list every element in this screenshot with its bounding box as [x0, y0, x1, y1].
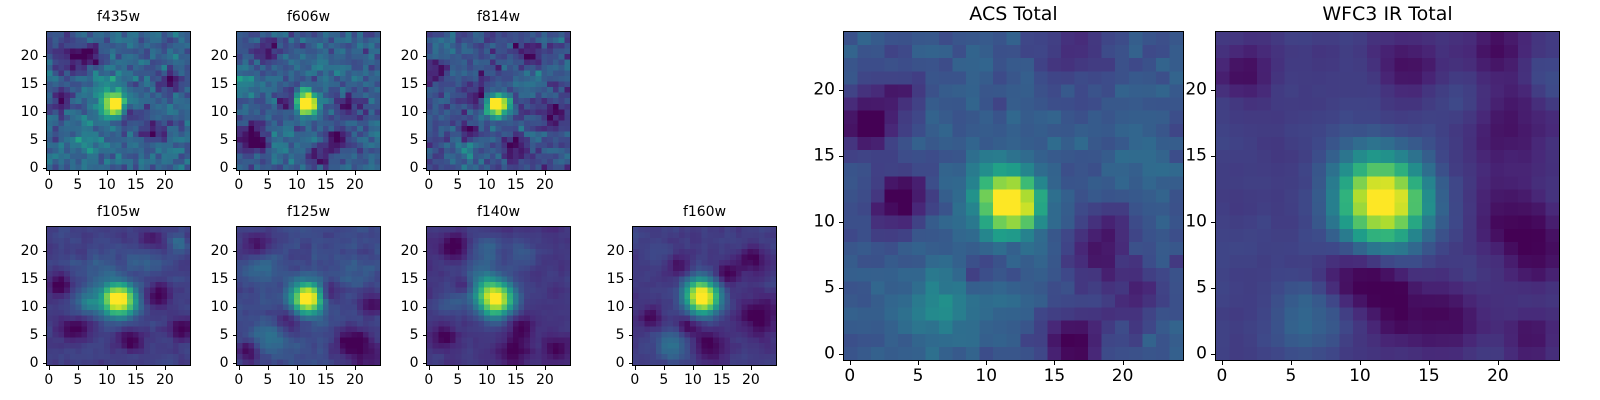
xtick-f814w-10 — [487, 171, 488, 175]
ytick-f105w-15 — [43, 279, 47, 280]
xtick-wfc3_ir_total-10 — [1360, 361, 1361, 365]
yticklabel-f814w-20: 20 — [345, 49, 419, 63]
panel-title-f160w: f160w — [632, 205, 777, 219]
ytick-f105w-5 — [43, 335, 47, 336]
ytick-f160w-5 — [629, 335, 633, 336]
yticklabel-f125w-10: 10 — [155, 300, 229, 314]
yticklabel-f814w-10: 10 — [345, 105, 419, 119]
heatmap-image-wfc3_ir_total — [1216, 32, 1559, 360]
axes-f160w[interactable] — [632, 226, 777, 366]
yticklabel-f160w-15: 15 — [551, 272, 625, 286]
panel-acs_total: ACS Total0510152005101520 — [843, 31, 1184, 361]
panel-title-f606w: f606w — [236, 10, 381, 24]
yticklabel-f814w-15: 15 — [345, 77, 419, 91]
yticklabel-f606w-15: 15 — [155, 77, 229, 91]
axes-acs_total[interactable] — [843, 31, 1184, 361]
xtick-acs_total-0 — [850, 361, 851, 365]
ytick-wfc3_ir_total-0 — [1211, 354, 1215, 355]
yticklabel-acs_total-20: 20 — [761, 82, 835, 99]
xtick-f140w-5 — [458, 366, 459, 370]
xtick-f140w-20 — [545, 366, 546, 370]
xtick-f606w-5 — [268, 171, 269, 175]
yticklabel-f105w-15: 15 — [0, 272, 39, 286]
xtick-f606w-0 — [239, 171, 240, 175]
ytick-f606w-10 — [233, 112, 237, 113]
ytick-acs_total-20 — [839, 90, 843, 91]
axes-wfc3_ir_total[interactable] — [1215, 31, 1560, 361]
xticklabel-wfc3_ir_total-5: 5 — [1285, 368, 1296, 385]
yticklabel-f606w-5: 5 — [155, 133, 229, 147]
ytick-f606w-5 — [233, 140, 237, 141]
yticklabel-f105w-20: 20 — [0, 244, 39, 258]
xtick-f814w-0 — [429, 171, 430, 175]
panel-title-acs_total: ACS Total — [843, 5, 1184, 24]
xticklabel-acs_total-5: 5 — [913, 368, 924, 385]
xtick-f435w-5 — [78, 171, 79, 175]
yticklabel-f160w-20: 20 — [551, 244, 625, 258]
yticklabel-acs_total-15: 15 — [761, 148, 835, 165]
xticklabel-f435w-15: 15 — [127, 178, 145, 192]
xtick-f140w-10 — [487, 366, 488, 370]
yticklabel-f435w-20: 20 — [0, 49, 39, 63]
xticklabel-f606w-10: 10 — [288, 178, 306, 192]
yticklabel-f140w-0: 0 — [345, 356, 419, 370]
ytick-f606w-15 — [233, 84, 237, 85]
ytick-f435w-15 — [43, 84, 47, 85]
panel-f160w: f160w0510152005101520 — [632, 226, 777, 366]
xtick-f125w-10 — [297, 366, 298, 370]
yticklabel-wfc3_ir_total-0: 0 — [1133, 346, 1207, 363]
xtick-f435w-0 — [49, 171, 50, 175]
yticklabel-f105w-0: 0 — [0, 356, 39, 370]
ytick-f814w-0 — [423, 168, 427, 169]
yticklabel-f140w-20: 20 — [345, 244, 419, 258]
xticklabel-f814w-15: 15 — [507, 178, 525, 192]
ytick-wfc3_ir_total-20 — [1211, 90, 1215, 91]
xticklabel-f160w-15: 15 — [713, 373, 731, 387]
xticklabel-f606w-20: 20 — [346, 178, 364, 192]
yticklabel-f435w-0: 0 — [0, 161, 39, 175]
yticklabel-f435w-15: 15 — [0, 77, 39, 91]
xticklabel-f125w-0: 0 — [234, 373, 243, 387]
yticklabel-f140w-5: 5 — [345, 328, 419, 342]
xtick-f814w-15 — [516, 171, 517, 175]
xtick-f160w-10 — [693, 366, 694, 370]
yticklabel-wfc3_ir_total-10: 10 — [1133, 214, 1207, 231]
xtick-f105w-5 — [78, 366, 79, 370]
axes-f140w[interactable] — [426, 226, 571, 366]
xtick-wfc3_ir_total-15 — [1429, 361, 1430, 365]
ytick-f606w-0 — [233, 168, 237, 169]
yticklabel-wfc3_ir_total-15: 15 — [1133, 148, 1207, 165]
yticklabel-f606w-10: 10 — [155, 105, 229, 119]
xtick-f140w-15 — [516, 366, 517, 370]
xticklabel-f435w-10: 10 — [98, 178, 116, 192]
panel-title-f140w: f140w — [426, 205, 571, 219]
xtick-acs_total-10 — [986, 361, 987, 365]
yticklabel-wfc3_ir_total-5: 5 — [1133, 280, 1207, 297]
xticklabel-wfc3_ir_total-20: 20 — [1487, 368, 1509, 385]
xticklabel-f140w-0: 0 — [424, 373, 433, 387]
xticklabel-wfc3_ir_total-0: 0 — [1216, 368, 1227, 385]
panel-title-f814w: f814w — [426, 10, 571, 24]
xticklabel-f160w-0: 0 — [630, 373, 639, 387]
panel-title-f435w: f435w — [46, 10, 191, 24]
xtick-f125w-5 — [268, 366, 269, 370]
xtick-f105w-0 — [49, 366, 50, 370]
xticklabel-f160w-5: 5 — [659, 373, 668, 387]
yticklabel-f160w-0: 0 — [551, 356, 625, 370]
ytick-acs_total-0 — [839, 354, 843, 355]
yticklabel-f606w-20: 20 — [155, 49, 229, 63]
yticklabel-f814w-5: 5 — [345, 133, 419, 147]
heatmap-image-f814w — [427, 32, 570, 170]
xtick-f606w-15 — [326, 171, 327, 175]
xtick-acs_total-20 — [1123, 361, 1124, 365]
yticklabel-f606w-0: 0 — [155, 161, 229, 175]
xtick-f105w-15 — [136, 366, 137, 370]
panel-f140w: f140w0510152005101520 — [426, 226, 571, 366]
xticklabel-f105w-15: 15 — [127, 373, 145, 387]
ytick-f435w-10 — [43, 112, 47, 113]
ytick-f125w-15 — [233, 279, 237, 280]
ytick-f160w-15 — [629, 279, 633, 280]
ytick-acs_total-10 — [839, 222, 843, 223]
yticklabel-f160w-10: 10 — [551, 300, 625, 314]
panel-title-f105w: f105w — [46, 205, 191, 219]
ytick-f105w-10 — [43, 307, 47, 308]
xticklabel-f160w-20: 20 — [742, 373, 760, 387]
ytick-f814w-20 — [423, 56, 427, 57]
xticklabel-f140w-20: 20 — [536, 373, 554, 387]
xticklabel-wfc3_ir_total-10: 10 — [1349, 368, 1371, 385]
ytick-f814w-10 — [423, 112, 427, 113]
xticklabel-f814w-0: 0 — [424, 178, 433, 192]
ytick-f160w-10 — [629, 307, 633, 308]
xticklabel-acs_total-15: 15 — [1044, 368, 1066, 385]
xticklabel-f105w-10: 10 — [98, 373, 116, 387]
xticklabel-f435w-0: 0 — [44, 178, 53, 192]
xtick-f105w-10 — [107, 366, 108, 370]
xtick-wfc3_ir_total-5 — [1291, 361, 1292, 365]
xtick-f435w-15 — [136, 171, 137, 175]
xtick-f814w-20 — [545, 171, 546, 175]
figure-canvas: f435w0510152005101520f606w05101520051015… — [0, 0, 1600, 400]
xticklabel-f606w-15: 15 — [317, 178, 335, 192]
heatmap-image-f140w — [427, 227, 570, 365]
panel-wfc3_ir_total: WFC3 IR Total0510152005101520 — [1215, 31, 1560, 361]
yticklabel-f125w-5: 5 — [155, 328, 229, 342]
ytick-wfc3_ir_total-15 — [1211, 156, 1215, 157]
ytick-f435w-5 — [43, 140, 47, 141]
xtick-f435w-10 — [107, 171, 108, 175]
yticklabel-f105w-10: 10 — [0, 300, 39, 314]
xtick-acs_total-15 — [1054, 361, 1055, 365]
xticklabel-f814w-20: 20 — [536, 178, 554, 192]
xtick-f814w-5 — [458, 171, 459, 175]
ytick-acs_total-5 — [839, 288, 843, 289]
yticklabel-f140w-10: 10 — [345, 300, 419, 314]
xticklabel-acs_total-10: 10 — [975, 368, 997, 385]
xtick-f160w-20 — [751, 366, 752, 370]
ytick-f140w-10 — [423, 307, 427, 308]
xticklabel-f160w-10: 10 — [684, 373, 702, 387]
xticklabel-f140w-10: 10 — [478, 373, 496, 387]
yticklabel-f125w-15: 15 — [155, 272, 229, 286]
ytick-f814w-15 — [423, 84, 427, 85]
ytick-acs_total-15 — [839, 156, 843, 157]
ytick-f160w-20 — [629, 251, 633, 252]
ytick-f814w-5 — [423, 140, 427, 141]
yticklabel-wfc3_ir_total-20: 20 — [1133, 82, 1207, 99]
ytick-f435w-0 — [43, 168, 47, 169]
xticklabel-f606w-5: 5 — [263, 178, 272, 192]
xtick-f606w-10 — [297, 171, 298, 175]
xticklabel-f125w-10: 10 — [288, 373, 306, 387]
yticklabel-acs_total-10: 10 — [761, 214, 835, 231]
ytick-f140w-20 — [423, 251, 427, 252]
ytick-f105w-0 — [43, 363, 47, 364]
xticklabel-f125w-5: 5 — [263, 373, 272, 387]
ytick-f125w-5 — [233, 335, 237, 336]
xticklabel-f105w-0: 0 — [44, 373, 53, 387]
xticklabel-f814w-5: 5 — [453, 178, 462, 192]
xticklabel-f105w-20: 20 — [156, 373, 174, 387]
ytick-f125w-20 — [233, 251, 237, 252]
xtick-f125w-0 — [239, 366, 240, 370]
ytick-f606w-20 — [233, 56, 237, 57]
xticklabel-f105w-5: 5 — [73, 373, 82, 387]
xtick-f160w-15 — [722, 366, 723, 370]
ytick-f140w-0 — [423, 363, 427, 364]
xticklabel-acs_total-0: 0 — [844, 368, 855, 385]
xticklabel-f435w-5: 5 — [73, 178, 82, 192]
xtick-f140w-0 — [429, 366, 430, 370]
xticklabel-f435w-20: 20 — [156, 178, 174, 192]
yticklabel-f814w-0: 0 — [345, 161, 419, 175]
ytick-f140w-5 — [423, 335, 427, 336]
yticklabel-f435w-10: 10 — [0, 105, 39, 119]
ytick-f105w-20 — [43, 251, 47, 252]
ytick-wfc3_ir_total-10 — [1211, 222, 1215, 223]
yticklabel-f125w-20: 20 — [155, 244, 229, 258]
xticklabel-f814w-10: 10 — [478, 178, 496, 192]
yticklabel-f140w-15: 15 — [345, 272, 419, 286]
xtick-f160w-5 — [664, 366, 665, 370]
axes-f814w[interactable] — [426, 31, 571, 171]
panel-title-wfc3_ir_total: WFC3 IR Total — [1215, 5, 1560, 24]
xtick-f160w-0 — [635, 366, 636, 370]
xtick-wfc3_ir_total-20 — [1498, 361, 1499, 365]
xtick-acs_total-5 — [918, 361, 919, 365]
xticklabel-f140w-5: 5 — [453, 373, 462, 387]
ytick-f125w-0 — [233, 363, 237, 364]
xticklabel-wfc3_ir_total-15: 15 — [1418, 368, 1440, 385]
xtick-wfc3_ir_total-0 — [1222, 361, 1223, 365]
xticklabel-f606w-0: 0 — [234, 178, 243, 192]
ytick-f140w-15 — [423, 279, 427, 280]
yticklabel-f435w-5: 5 — [0, 133, 39, 147]
ytick-f435w-20 — [43, 56, 47, 57]
yticklabel-acs_total-5: 5 — [761, 280, 835, 297]
xticklabel-f125w-15: 15 — [317, 373, 335, 387]
ytick-f160w-0 — [629, 363, 633, 364]
xticklabel-acs_total-20: 20 — [1112, 368, 1134, 385]
panel-f814w: f814w0510152005101520 — [426, 31, 571, 171]
xticklabel-f140w-15: 15 — [507, 373, 525, 387]
panel-title-f125w: f125w — [236, 205, 381, 219]
xtick-f125w-15 — [326, 366, 327, 370]
heatmap-image-f160w — [633, 227, 776, 365]
yticklabel-f105w-5: 5 — [0, 328, 39, 342]
ytick-wfc3_ir_total-5 — [1211, 288, 1215, 289]
xticklabel-f125w-20: 20 — [346, 373, 364, 387]
yticklabel-f160w-5: 5 — [551, 328, 625, 342]
ytick-f125w-10 — [233, 307, 237, 308]
yticklabel-f125w-0: 0 — [155, 356, 229, 370]
yticklabel-acs_total-0: 0 — [761, 346, 835, 363]
